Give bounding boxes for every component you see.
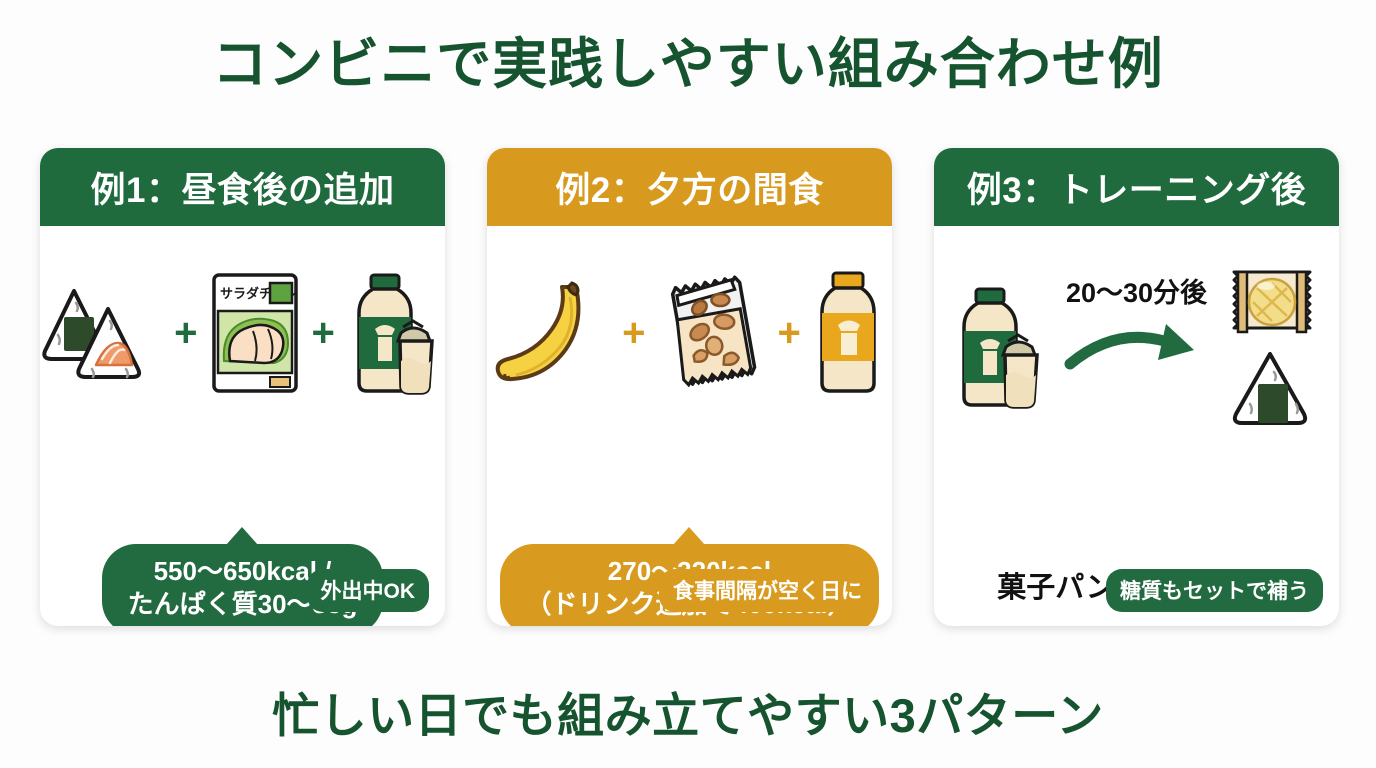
card-3-left-item: [942, 283, 1062, 411]
card-3-body: 20〜30分後: [934, 226, 1339, 626]
footer-caption: 忙しい日でも組み立てやすい3パターン: [0, 677, 1376, 746]
example-card-3[interactable]: 例3：トレーニング後: [934, 148, 1339, 626]
card-1-header: 例1：昼食後の追加: [40, 148, 445, 226]
card-1-items: + サラダチキン: [40, 258, 445, 408]
card-3-badge: 糖質もセットで補う: [1106, 569, 1323, 612]
drink-bottle-icon: [811, 269, 887, 397]
melon-pan-pack-icon: [1224, 264, 1320, 340]
timing-label: 20〜30分後: [1066, 271, 1207, 310]
card-3-header: 例3：トレーニング後: [934, 148, 1339, 226]
example-card-2[interactable]: 例2：夕方の間食 +: [487, 148, 892, 626]
plus-sign-2: +: [312, 313, 335, 353]
card-1-body: + サラダチキン: [40, 226, 445, 626]
plus-sign-1: +: [174, 313, 197, 353]
nuts-pack-icon: [656, 270, 768, 396]
card-row: 例1：昼食後の追加: [40, 148, 1340, 626]
card-3-timing: 20〜30分後: [1062, 267, 1212, 427]
banana-icon: [492, 273, 612, 393]
card-3-right-items: [1212, 264, 1332, 430]
card-3-flow: 20〜30分後: [934, 252, 1339, 442]
curved-arrow-icon: [1062, 310, 1212, 380]
infographic-page: コンビニで実践しやすい組み合わせ例 例1：昼食後の追加: [0, 0, 1376, 768]
card-2-header: 例2：夕方の間食: [487, 148, 892, 226]
onigiri-pair-icon: [40, 273, 164, 393]
onigiri-icon: [1224, 346, 1320, 430]
plus-sign-3: +: [622, 313, 645, 353]
page-title: コンビニで実践しやすい組み合わせ例: [212, 34, 1163, 95]
card-2-badge: 食事間隔が空く日に: [659, 569, 876, 612]
salad-chicken-pack-icon: サラダチキン: [208, 269, 302, 397]
example-card-1[interactable]: 例1：昼食後の追加: [40, 148, 445, 626]
card-2-items: +: [492, 258, 887, 408]
plus-sign-4: +: [778, 313, 801, 353]
card-2-body: +: [487, 226, 892, 626]
protein-drink-shaker-icon: [950, 283, 1054, 411]
protein-drink-shaker-icon: [345, 269, 445, 397]
card-1-badge: 外出中OK: [307, 569, 430, 612]
